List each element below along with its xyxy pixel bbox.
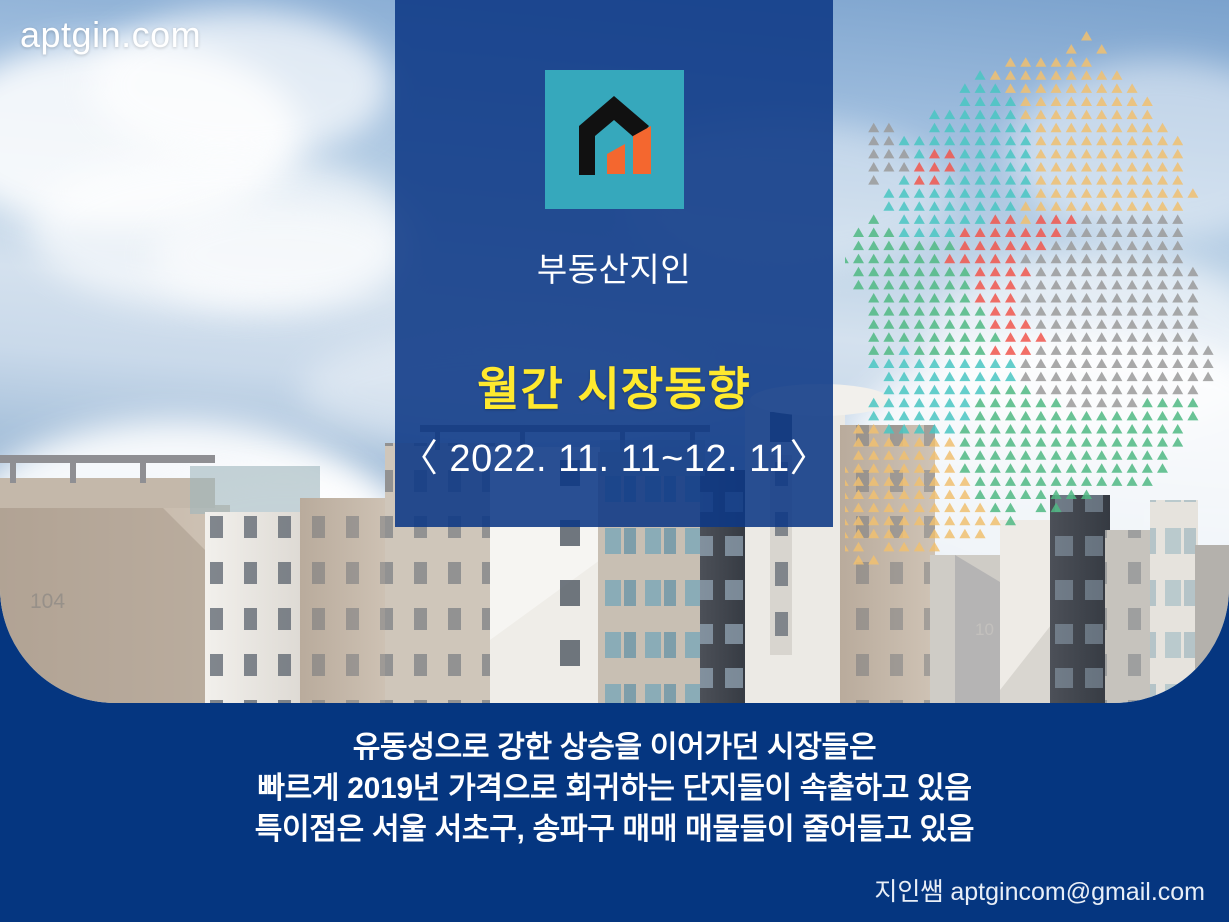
- summary-text: 유동성으로 강한 상승을 이어가던 시장들은 빠르게 2019년 가격으로 회귀…: [0, 727, 1229, 850]
- date-range: 〈 2022. 11. 11~12. 11〉: [400, 427, 828, 482]
- summary-line: 빠르게 2019년 가격으로 회귀하는 단지들이 속출하고 있음: [0, 768, 1229, 809]
- summary-line: 특이점은 서울 서초구, 송파구 매매 매물들이 줄어들고 있음: [0, 809, 1229, 850]
- brand-name: 부동산지인: [537, 243, 691, 291]
- building-number-label: 104: [30, 590, 65, 613]
- summary-line: 유동성으로 강한 상승을 이어가던 시장들은: [0, 727, 1229, 768]
- korea-triangle-dot-map: [845, 25, 1225, 585]
- page-title: 월간 시장동향: [477, 353, 751, 419]
- house-bar-chart-icon: [545, 70, 684, 209]
- title-panel: 부동산지인 월간 시장동향 〈 2022. 11. 11~12. 11〉: [395, 0, 833, 527]
- site-watermark: aptgin.com: [20, 14, 201, 56]
- contact-note: 지인쌤 aptgincom@gmail.com: [874, 872, 1205, 908]
- building-number-label: 10: [975, 620, 994, 639]
- slide-root: 104 10 aptgin.com 부동산지인 월간 시장동향 〈 2022. …: [0, 0, 1229, 922]
